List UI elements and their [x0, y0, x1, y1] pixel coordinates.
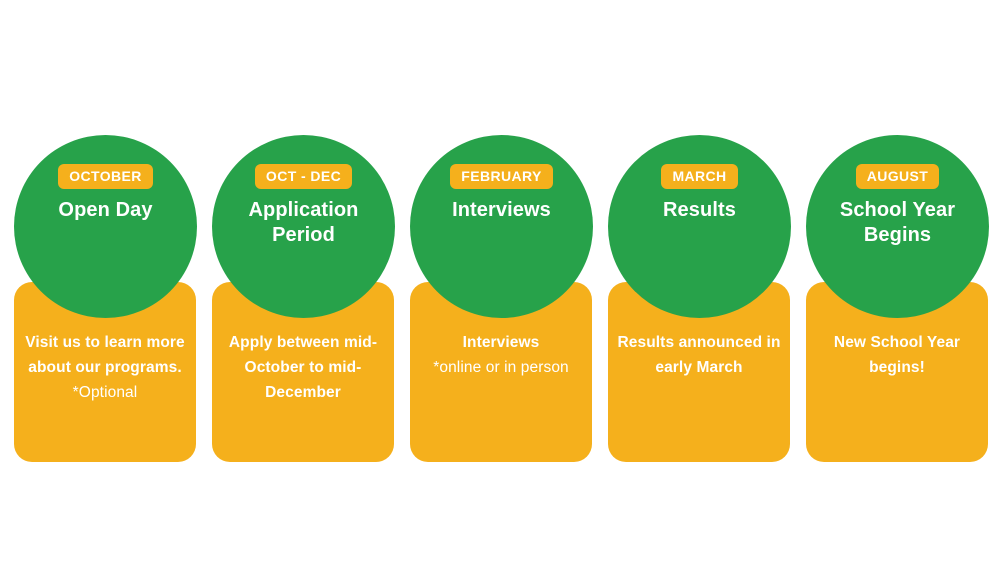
stage-description: Visit us to learn more about our program…	[22, 330, 188, 380]
stage-month-badge: OCT - DEC	[255, 164, 352, 189]
timeline-stage-october: Visit us to learn more about our program…	[14, 0, 196, 563]
admissions-timeline-infographic: Visit us to learn more about our program…	[0, 0, 1000, 563]
timeline-stage-list: Visit us to learn more about our program…	[0, 0, 1000, 563]
stage-title: Results	[653, 198, 746, 223]
stage-month-badge: MARCH	[661, 164, 737, 189]
stage-description: Interviews	[463, 330, 540, 355]
timeline-stage-august: New School Year begins! AUGUST School Ye…	[806, 0, 988, 563]
stage-description: Results announced in early March	[616, 330, 782, 380]
stage-title: Application Period	[212, 198, 395, 248]
stage-circle: MARCH Results	[608, 135, 791, 318]
timeline-stage-march: Results announced in early March MARCH R…	[608, 0, 790, 563]
timeline-stage-oct-dec: Apply between mid-October to mid-Decembe…	[212, 0, 394, 563]
stage-title: Open Day	[48, 198, 162, 223]
stage-title: School Year Begins	[806, 198, 989, 248]
stage-month-badge: OCTOBER	[58, 164, 153, 189]
stage-description: New School Year begins!	[814, 330, 980, 380]
stage-month-badge: AUGUST	[856, 164, 940, 189]
timeline-stage-february: Interviews *online or in person FEBRUARY…	[410, 0, 592, 563]
stage-note: *online or in person	[433, 355, 569, 380]
stage-month-badge: FEBRUARY	[450, 164, 552, 189]
stage-title: Interviews	[442, 198, 561, 223]
stage-circle: FEBRUARY Interviews	[410, 135, 593, 318]
stage-circle: OCT - DEC Application Period	[212, 135, 395, 318]
stage-circle: AUGUST School Year Begins	[806, 135, 989, 318]
stage-note: *Optional	[73, 380, 138, 405]
stage-circle: OCTOBER Open Day	[14, 135, 197, 318]
stage-description: Apply between mid-October to mid-Decembe…	[220, 330, 386, 405]
